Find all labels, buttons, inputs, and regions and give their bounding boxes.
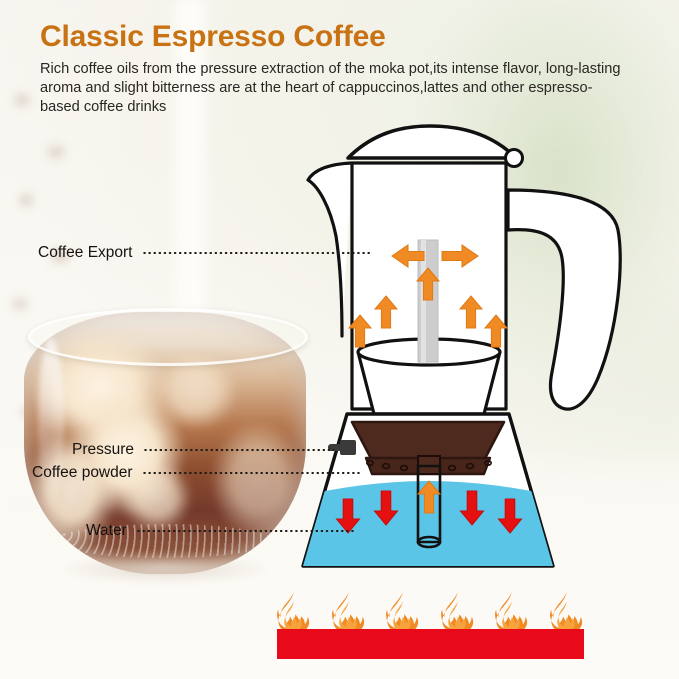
callout-label: Coffee powder [32,464,133,482]
flame-icon [441,591,475,633]
flame-icon [495,591,529,633]
handle [508,190,620,409]
lid-knob [506,150,523,167]
lid [348,126,516,158]
leader-line [143,449,334,451]
leader-line [136,530,354,532]
flame-icon [550,591,584,633]
callout-coffee-powder: Coffee powder [32,463,362,483]
leader-line [142,472,362,474]
infographic-root: Classic Espresso Coffee Rich coffee oils… [0,0,679,679]
callout-coffee-export: Coffee Export [38,243,372,263]
flame-icon [277,591,311,633]
callout-label: Coffee Export [38,244,133,262]
leader-line [142,252,373,254]
flame-row [277,589,584,633]
flame-icon [332,591,366,633]
callout-label: Water [86,522,127,540]
callout-label: Pressure [72,441,134,459]
stove-burner [277,629,584,659]
flame-icon [386,591,420,633]
moka-pot-diagram [0,0,679,679]
callout-water: Water [86,521,354,541]
callout-pressure: Pressure [72,440,334,460]
